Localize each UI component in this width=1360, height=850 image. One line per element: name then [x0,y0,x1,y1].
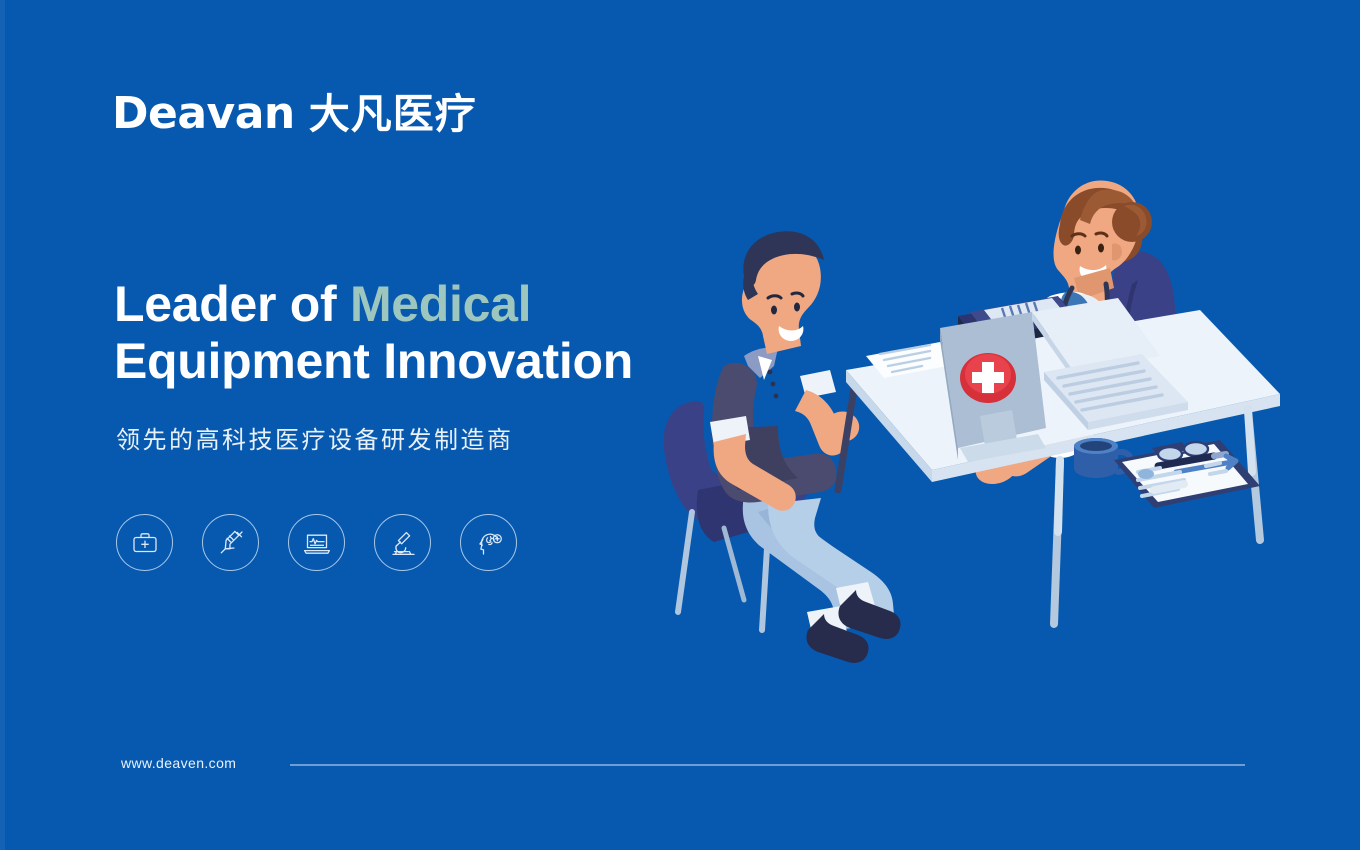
footer-website-url[interactable]: www.deaven.com [121,755,236,771]
medical-kit-icon[interactable] [116,514,173,571]
brain-head-plus-icon[interactable] [460,514,517,571]
doctor-consultation-illustration [640,160,1320,680]
headline-plain-text: Leader of [114,276,350,332]
logo-wordmark: Deavan [112,92,295,136]
left-edge-strip [0,0,5,850]
patient-figure [710,231,901,663]
syringe-icon[interactable] [202,514,259,571]
clipboard [1114,440,1260,508]
headline-accent-text: Medical [350,276,531,332]
microscope-icon[interactable] [374,514,431,571]
footer-divider-line [290,764,1245,766]
subtitle-chinese: 领先的高科技医疗设备研发制造商 [116,420,514,455]
coffee-mug [1074,438,1131,478]
logo-chinese-name: 大凡医疗 [309,94,477,135]
laptop-ecg-icon[interactable] [288,514,345,571]
brand-logo: Deavan 大凡医疗 [112,88,477,140]
computer-monitor [940,312,1046,462]
slide-canvas: Deavan 大凡医疗 Leader of Medical Equipment … [0,0,1360,850]
feature-icon-row [116,514,517,571]
